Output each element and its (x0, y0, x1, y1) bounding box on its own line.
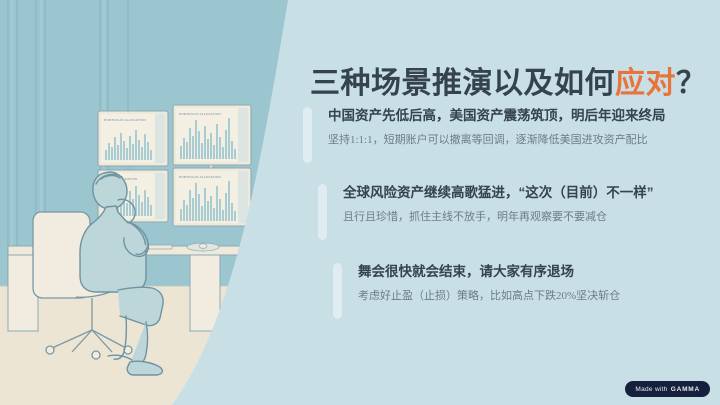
scenario-text: 全球风险资产继续高歌猛进，“这次（目前）不一样” 且行且珍惜，抓住主线不放手，明… (343, 183, 654, 240)
accent-bar (333, 263, 342, 319)
svg-text:PORTFOLIO ALLOCATION: PORTFOLIO ALLOCATION (179, 175, 221, 179)
page-title-accent: 应对 (615, 67, 676, 100)
investor-at-trading-desk-illustration: PORTFOLIO ALLOCATION (0, 0, 300, 405)
scenario-text: 中国资产先低后高，美国资产震荡筑顶，明后年迎来终局 坚持1:1:1，短期账户可以… (328, 106, 666, 163)
accent-bar (303, 107, 312, 163)
scenario-heading: 全球风险资产继续高歌猛进，“这次（目前）不一样” (343, 183, 654, 203)
scenario-block-2: 全球风险资产继续高歌猛进，“这次（目前）不一样” 且行且珍惜，抓住主线不放手，明… (318, 183, 654, 240)
badge-prefix: Made with (635, 386, 667, 393)
accent-bar (318, 184, 327, 240)
scenario-subtext: 且行且珍惜，抓住主线不放手，明年再观察要不要减仓 (343, 210, 654, 226)
illustration-panel: PORTFOLIO ALLOCATION (0, 0, 300, 405)
page-title-suffix: ？ (676, 67, 707, 100)
scenario-heading: 舞会很快就会结束，请大家有序退场 (358, 262, 620, 282)
scenario-subtext: 考虑好止盈（止损）策略，比如高点下跌20%坚决斩仓 (358, 289, 620, 305)
made-with-gamma-badge[interactable]: Made withGAMMA (625, 381, 710, 397)
page-title: 三种场景推演以及如何应对？ (310, 58, 707, 102)
monitor-bottom-right: PORTFOLIO ALLOCATION (173, 168, 251, 226)
page-title-main: 三种场景推演以及如何 (310, 67, 615, 100)
content-panel: 三种场景推演以及如何应对？ 中国资产先低后高，美国资产震荡筑顶，明后年迎来终局 … (300, 0, 720, 405)
scenario-subtext: 坚持1:1:1，短期账户可以撤离等回调，逐渐降低美国进攻资产配比 (328, 133, 666, 149)
scenario-block-1: 中国资产先低后高，美国资产震荡筑顶，明后年迎来终局 坚持1:1:1，短期账户可以… (303, 106, 666, 163)
svg-text:PORTFOLIO ALLOCATION: PORTFOLIO ALLOCATION (104, 118, 146, 122)
monitor-top-left: PORTFOLIO ALLOCATION (98, 111, 168, 166)
scenario-heading: 中国资产先低后高，美国资产震荡筑顶，明后年迎来终局 (328, 106, 666, 126)
svg-text:PORTFOLIO ALLOCATION: PORTFOLIO ALLOCATION (179, 112, 221, 116)
slide: PORTFOLIO ALLOCATION (0, 0, 720, 405)
scenario-block-3: 舞会很快就会结束，请大家有序退场 考虑好止盈（止损）策略，比如高点下跌20%坚决… (333, 262, 620, 319)
badge-brand: GAMMA (671, 386, 700, 393)
scenario-text: 舞会很快就会结束，请大家有序退场 考虑好止盈（止损）策略，比如高点下跌20%坚决… (358, 262, 620, 319)
